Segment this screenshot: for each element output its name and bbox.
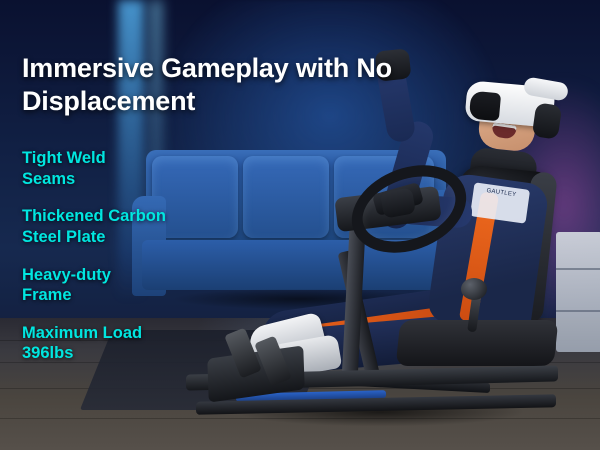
feature-item-thickened-carbon-steel-plate: Thickened Carbon Steel Plate (22, 206, 252, 247)
side-table-edge (556, 268, 600, 270)
headline: Immersive Gameplay with No Displacement (22, 52, 402, 118)
side-table-edge (556, 310, 600, 312)
feature-item-heavy-duty-frame: Heavy-duty Frame (22, 265, 252, 306)
racing-seat-base (396, 320, 559, 366)
marketing-image: GAUTLEY Immersive Gameplay with No Displ… (0, 0, 600, 450)
feature-item-maximum-load: Maximum Load 396lbs (22, 323, 252, 364)
shifter-knob (461, 278, 487, 300)
sofa-cushion (243, 156, 329, 238)
vr-headset-lens-housing (469, 91, 501, 122)
feature-list: Tight Weld Seams Thickened Carbon Steel … (22, 148, 252, 364)
feature-item-tight-weld-seams: Tight Weld Seams (22, 148, 252, 189)
side-table (556, 232, 600, 352)
